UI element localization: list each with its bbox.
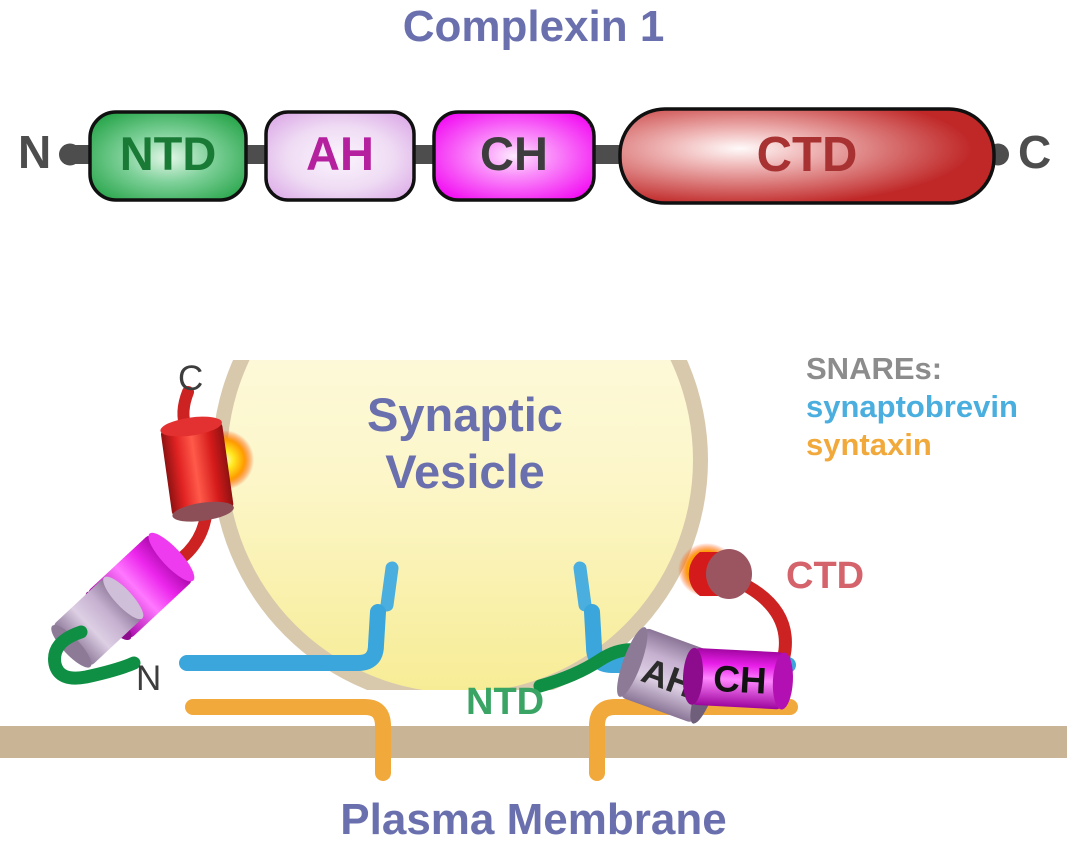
domain-box-ntd[interactable]: NTD [90, 112, 246, 200]
label-left-c-terminus: C [178, 359, 203, 398]
figure-canvas: Complexin 1 [0, 0, 1067, 851]
domain-label-ah: AH [306, 127, 374, 180]
snare-legend: SNAREs: synaptobrevin syntaxin [806, 350, 1018, 463]
plasma-membrane-bar [0, 726, 1067, 758]
synaptobrevin-membrane-anchor-right [580, 568, 585, 605]
domain-box-ch[interactable]: CH [434, 112, 594, 200]
page-title: Complexin 1 [0, 2, 1067, 52]
domain-box-ctd[interactable]: CTD [620, 109, 994, 203]
callout-ntd: NTD [466, 681, 544, 723]
plasma-membrane-label: Plasma Membrane [0, 795, 1067, 845]
legend-item-synaptobrevin: synaptobrevin [806, 388, 1018, 426]
complexin-right-ctd-helix [689, 549, 752, 599]
callout-ctd: CTD [786, 555, 864, 597]
domain-label-ntd: NTD [120, 127, 217, 180]
domain-label-ctd: CTD [757, 128, 858, 182]
legend-heading: SNAREs: [806, 350, 1018, 388]
complexin-right-ch-helix: CH [682, 647, 795, 710]
synaptobrevin-membrane-anchor-left [387, 568, 392, 605]
domain-box-ah[interactable]: AH [266, 112, 414, 200]
n-terminus-label: N [18, 125, 51, 179]
c-terminus-label: C [1018, 125, 1051, 179]
domain-label-ch: CH [480, 127, 548, 180]
vesicle-label-line2: Vesicle [305, 443, 625, 500]
label-left-n-terminus: N [136, 659, 161, 698]
complexin-right-ch-label: CH [712, 658, 768, 702]
domain-architecture-diagram: NTD AH CH CTD [0, 95, 1067, 220]
legend-item-syntaxin: syntaxin [806, 426, 1018, 464]
vesicle-label: Synaptic Vesicle [305, 386, 625, 501]
vesicle-label-line1: Synaptic [305, 386, 625, 443]
